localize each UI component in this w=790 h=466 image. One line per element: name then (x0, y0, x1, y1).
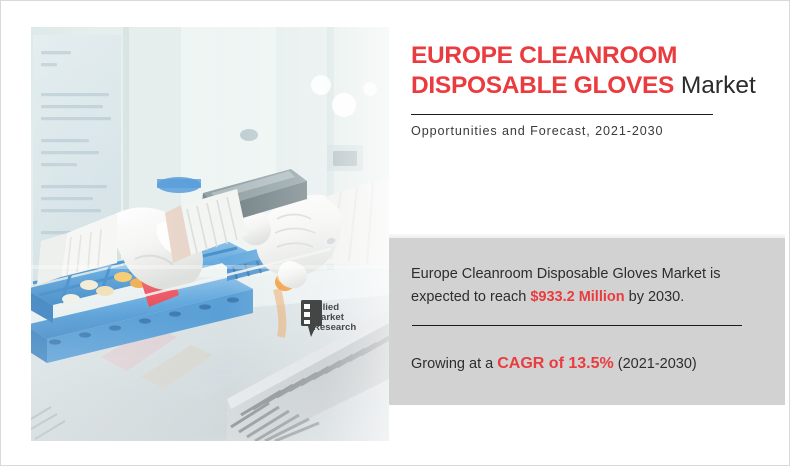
lab-photo-illustration (31, 27, 389, 441)
title-line-2-red: DISPOSABLE GLOVES (411, 72, 674, 99)
cagr-value: CAGR of 13.5% (497, 355, 613, 372)
subtitle: Opportunities and Forecast, 2021-2030 (411, 124, 663, 138)
page-title: EUROPE CLEANROOM DISPOSABLE GLOVES Marke… (411, 41, 771, 101)
title-line-2-suffix: Market (674, 72, 756, 99)
lab-photo (31, 27, 389, 441)
panel-divider (412, 325, 742, 326)
cagr-prefix: Growing at a (411, 356, 497, 372)
title-line-1: EUROPE CLEANROOM (411, 41, 771, 71)
title-divider (411, 114, 713, 115)
stat-suffix: by 2030. (625, 289, 685, 305)
infographic-card: Allied Market Research EUROPE CLEANROOM … (0, 0, 790, 466)
cagr-suffix: (2021-2030) (614, 356, 697, 372)
market-value-statement: Europe Cleanroom Disposable Gloves Marke… (411, 263, 763, 309)
cagr-statement: Growing at a CAGR of 13.5% (2021-2030) (411, 353, 763, 375)
title-line-2: DISPOSABLE GLOVES Market (411, 71, 771, 101)
stat-value: $933.2 Million (530, 289, 624, 305)
cagr-text: Growing at a CAGR of 13.5% (2021-2030) (411, 353, 763, 375)
market-value-text: Europe Cleanroom Disposable Gloves Marke… (411, 263, 763, 309)
